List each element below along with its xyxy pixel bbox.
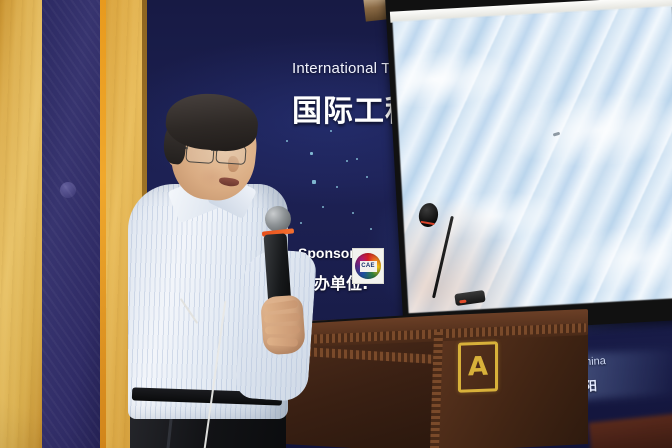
sponsor-logo: CAE xyxy=(352,248,384,284)
gooseneck-microphone-band xyxy=(421,221,435,225)
navy-banner-strip xyxy=(42,0,108,448)
presenter-finger xyxy=(267,337,298,347)
podium-emblem: А xyxy=(458,341,498,392)
projection-screen xyxy=(385,0,672,335)
wood-wall-panel-left xyxy=(0,0,44,448)
presenter-figure xyxy=(120,100,340,448)
podium-emblem-glyph: А xyxy=(468,354,488,381)
presenter-finger xyxy=(265,326,300,335)
sponsor-logo-text: CAE xyxy=(360,261,377,272)
screenshot-scene: International Top 国际工程 y in Robotic 技术 S… xyxy=(0,0,672,448)
navy-strip-orb xyxy=(60,182,76,198)
microphone-indicator-led xyxy=(459,300,466,304)
sponsor-logo-ring: CAE xyxy=(355,253,381,279)
